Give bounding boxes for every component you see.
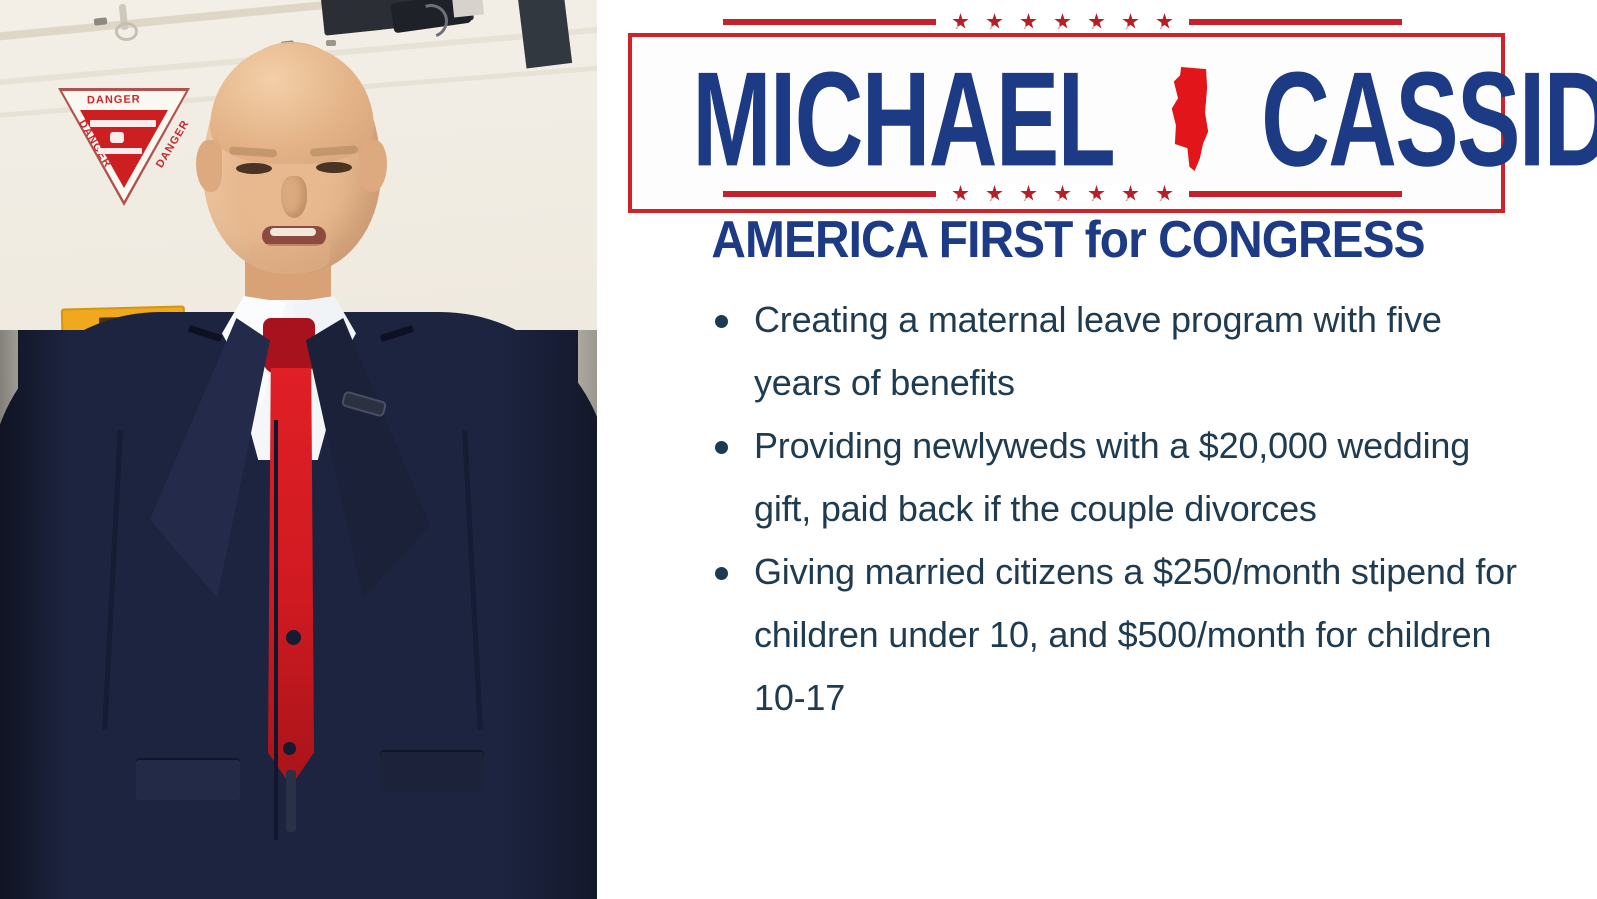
mississippi-state-icon <box>1162 67 1214 171</box>
jacket-pocket-right <box>380 752 484 792</box>
policy-bullet-list: Creating a maternal leave program with f… <box>702 288 1532 729</box>
content-panel: MICHAEL CASSIDY AMERICA FIRST for CONGRE… <box>597 0 1597 899</box>
stars-top <box>936 13 1189 30</box>
nose <box>281 176 307 218</box>
star-row-bottom <box>628 185 1497 202</box>
eye-right <box>316 162 352 173</box>
ear-left <box>196 140 222 192</box>
ear-right <box>361 140 387 192</box>
star-row-top <box>628 13 1497 30</box>
campaign-graphic: DANGER DANGER DANGER <box>0 0 1597 899</box>
chin <box>250 244 330 274</box>
star-icon <box>986 13 1003 30</box>
star-icon <box>1088 185 1105 202</box>
photo-shadow-left <box>0 330 70 899</box>
star-icon <box>1156 185 1173 202</box>
wordmark: MICHAEL CASSIDY <box>646 48 1479 190</box>
lanyard <box>286 770 296 832</box>
star-icon <box>1054 13 1071 30</box>
star-icon <box>1122 13 1139 30</box>
candidate-last-name: CASSIDY <box>1262 52 1597 187</box>
policy-bullet-item: Creating a maternal leave program with f… <box>702 288 1532 414</box>
campaign-logo: MICHAEL CASSIDY AMERICA FIRST for CONGRE… <box>628 22 1503 272</box>
photo-shadow-right <box>500 330 597 899</box>
star-icon <box>1054 185 1071 202</box>
jacket-button <box>283 742 296 755</box>
star-icon <box>1020 185 1037 202</box>
candidate-figure <box>0 0 597 899</box>
star-icon <box>1088 13 1105 30</box>
necktie-knot <box>263 318 315 374</box>
teeth <box>270 228 316 236</box>
star-icon <box>952 185 969 202</box>
jacket-pocket-left <box>136 760 240 800</box>
policy-bullet-item: Providing newlyweds with a $20,000 weddi… <box>702 414 1532 540</box>
star-icon <box>986 185 1003 202</box>
star-icon <box>1156 13 1173 30</box>
candidate-photo: DANGER DANGER DANGER <box>0 0 597 899</box>
candidate-first-name: MICHAEL <box>692 52 1114 187</box>
star-icon <box>952 13 969 30</box>
eye-left <box>236 163 272 174</box>
jacket-placket <box>274 420 278 840</box>
star-icon <box>1122 185 1139 202</box>
campaign-tagline: AMERICA FIRST for CONGRESS <box>674 214 1462 266</box>
stars-bottom <box>936 185 1189 202</box>
policy-bullet-item: Giving married citizens a $250/month sti… <box>702 540 1532 729</box>
jacket-button <box>286 630 301 645</box>
star-icon <box>1020 13 1037 30</box>
